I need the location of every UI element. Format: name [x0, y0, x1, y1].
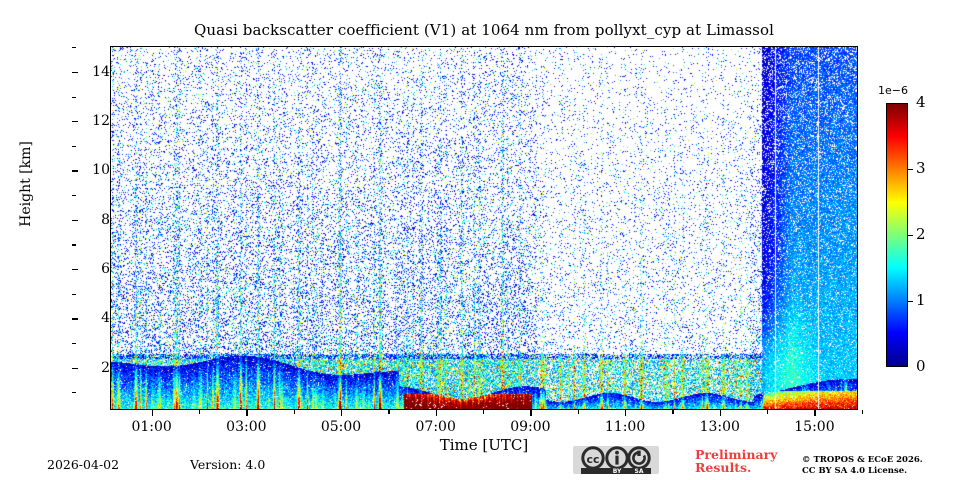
colorbar-tick-label: 3 [916, 161, 926, 176]
x-tick-label: 13:00 [685, 419, 755, 435]
x-tick-mark [436, 410, 437, 416]
y-axis-label: Height [km] [18, 54, 34, 314]
y-tick-mark [72, 72, 78, 73]
y-tick-mark [72, 121, 78, 122]
y-minor-tick-mark [72, 195, 76, 196]
heatmap-canvas [111, 47, 858, 410]
y-minor-tick-mark [72, 146, 76, 147]
svg-text:cc: cc [586, 453, 599, 466]
y-tick-label: 4 [84, 311, 110, 325]
x-tick-label: 01:00 [117, 419, 187, 435]
y-tick-label: 2 [84, 361, 110, 375]
x-tick-label: 09:00 [495, 419, 565, 435]
y-tick-mark [72, 318, 78, 319]
x-minor-tick-mark [578, 410, 579, 414]
y-minor-tick-mark [72, 244, 76, 245]
y-tick-mark [72, 269, 78, 270]
x-tick-label: 07:00 [401, 419, 471, 435]
x-tick-mark [530, 410, 531, 416]
colorbar-tick-label: 4 [916, 95, 926, 110]
x-minor-tick-mark [862, 410, 863, 414]
x-tick-label: 11:00 [590, 419, 660, 435]
y-minor-tick-mark [72, 294, 76, 295]
y-minor-tick-mark [72, 97, 76, 98]
x-tick-label: 15:00 [779, 419, 849, 435]
x-minor-tick-mark [672, 410, 673, 414]
svg-text:BY: BY [613, 468, 622, 474]
x-minor-tick-mark [199, 410, 200, 414]
colorbar-exponent-label: 1e−6 [878, 84, 908, 97]
x-minor-tick-mark [388, 410, 389, 414]
plot-area [110, 46, 858, 410]
y-tick-mark [72, 170, 78, 171]
x-minor-tick-mark [294, 410, 295, 414]
copyright-line-1: © TROPOS & ECoE 2026. [802, 455, 952, 466]
y-axis: 2468101214 [72, 46, 110, 410]
colorbar-gradient [886, 103, 908, 367]
y-minor-tick-mark [72, 343, 76, 344]
y-tick-mark [72, 220, 78, 221]
cc-by-sa-badge[interactable]: cc BY SA [573, 446, 659, 474]
figure-date: 2026-04-02 [47, 457, 119, 472]
y-minor-tick-mark [72, 392, 76, 393]
colorbar-tick-label: 1 [916, 293, 926, 308]
y-tick-mark [72, 368, 78, 369]
copyright-line-2: CC BY SA 4.0 License. [802, 466, 952, 477]
colorbar-tick-label: 0 [916, 359, 926, 374]
lidar-quicklook-figure: Quasi backscatter coefficient (V1) at 10… [0, 0, 960, 480]
x-tick-label: 05:00 [306, 419, 376, 435]
x-minor-tick-mark [483, 410, 484, 414]
colorbar: 01234 [886, 103, 908, 367]
y-tick-label: 14 [84, 65, 110, 79]
figure-version: Version: 4.0 [190, 457, 265, 472]
y-tick-label: 6 [84, 262, 110, 276]
x-tick-mark [341, 410, 342, 416]
colorbar-tick-mark [908, 235, 913, 236]
y-minor-tick-mark [72, 47, 76, 48]
creative-commons-icon: cc BY SA [573, 446, 659, 474]
x-tick-mark [814, 410, 815, 416]
y-tick-label: 10 [84, 163, 110, 177]
colorbar-tick-label: 2 [916, 227, 926, 242]
x-tick-mark [152, 410, 153, 416]
page-title: Quasi backscatter coefficient (V1) at 10… [110, 20, 858, 40]
colorbar-tick-mark [908, 301, 913, 302]
svg-text:SA: SA [635, 468, 644, 474]
copyright-note: © TROPOS & ECoE 2026. CC BY SA 4.0 Licen… [802, 455, 952, 476]
preliminary-results-note: Preliminary Results. [695, 448, 785, 474]
x-minor-tick-mark [767, 410, 768, 414]
y-tick-label: 12 [84, 114, 110, 128]
y-tick-label: 8 [84, 213, 110, 227]
x-tick-mark [720, 410, 721, 416]
preliminary-line-2: Results. [695, 461, 785, 474]
x-tick-mark [246, 410, 247, 416]
x-tick-label: 03:00 [211, 419, 281, 435]
colorbar-tick-mark [908, 169, 913, 170]
x-tick-mark [625, 410, 626, 416]
